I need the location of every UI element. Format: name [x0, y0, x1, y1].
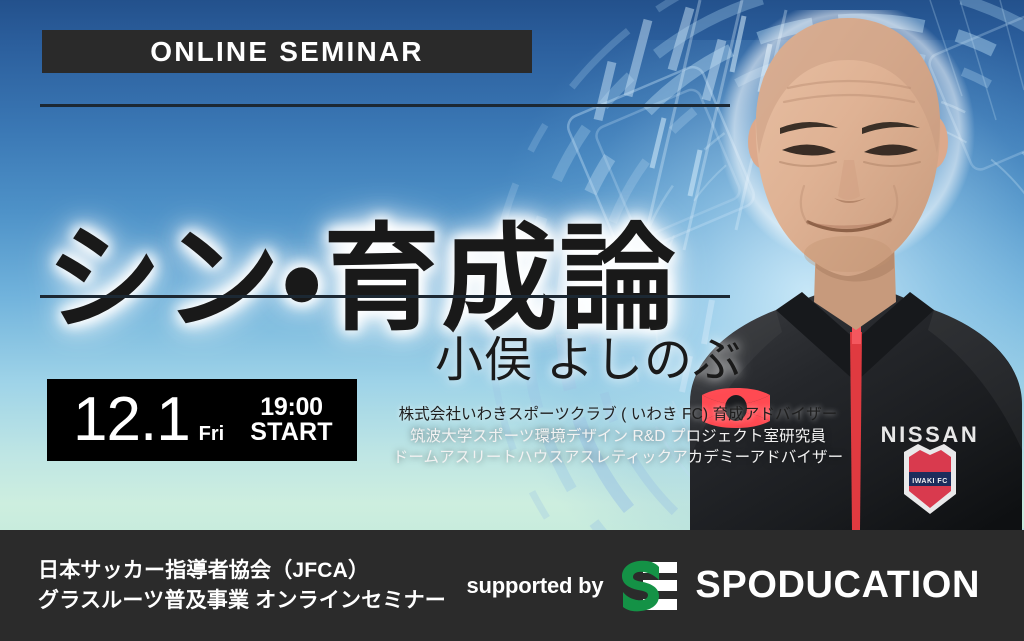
credential-line-3: ドームアスリートハウスアスレティックアカデミーアドバイザー	[378, 447, 858, 469]
sponsor-block: supported by SPODUCATION	[466, 560, 980, 612]
organizer-line-2: グラスルーツ普及事業 オンラインセミナー	[38, 586, 446, 616]
speaker-name: 小俣 よしのぶ	[435, 320, 742, 390]
credential-line-1: 株式会社いわきスポーツクラブ ( いわき FC) 育成アドバイザー	[378, 404, 858, 426]
speaker-credentials: 株式会社いわきスポーツクラブ ( いわき FC) 育成アドバイザー 筑波大学スポ…	[378, 404, 858, 469]
organizer-block: 日本サッカー指導者協会（JFCA） グラスルーツ普及事業 オンラインセミナー	[38, 556, 446, 616]
divider-bottom	[40, 295, 730, 298]
schedule-time: 19:00	[250, 395, 332, 421]
schedule-time-group: 19:00 START	[250, 395, 332, 446]
schedule-date-group: 12.1 Fri	[47, 389, 224, 451]
divider-top	[40, 104, 730, 107]
online-seminar-badge: ONLINE SEMINAR	[42, 30, 532, 73]
footer-bar: 日本サッカー指導者協会（JFCA） グラスルーツ普及事業 オンラインセミナー s…	[0, 530, 1024, 641]
seminar-poster: NISSAN IWAKI FC ONLINE SEMINAR シン・育成論 小俣…	[0, 0, 1024, 641]
schedule-box: 12.1 Fri 19:00 START	[47, 379, 357, 461]
sponsor-name: SPODUCATION	[695, 564, 980, 607]
online-seminar-label: ONLINE SEMINAR	[150, 36, 423, 68]
schedule-start-label: START	[250, 420, 332, 446]
credential-line-2: 筑波大学スポーツ環境デザイン R&D プロジェクト室研究員	[378, 426, 858, 448]
schedule-date: 12.1	[73, 389, 190, 451]
schedule-day-of-week: Fri	[199, 423, 225, 446]
organizer-line-1: 日本サッカー指導者協会（JFCA）	[38, 556, 446, 586]
supported-by-label: supported by	[466, 573, 603, 599]
spoducation-logo-icon	[621, 560, 677, 612]
